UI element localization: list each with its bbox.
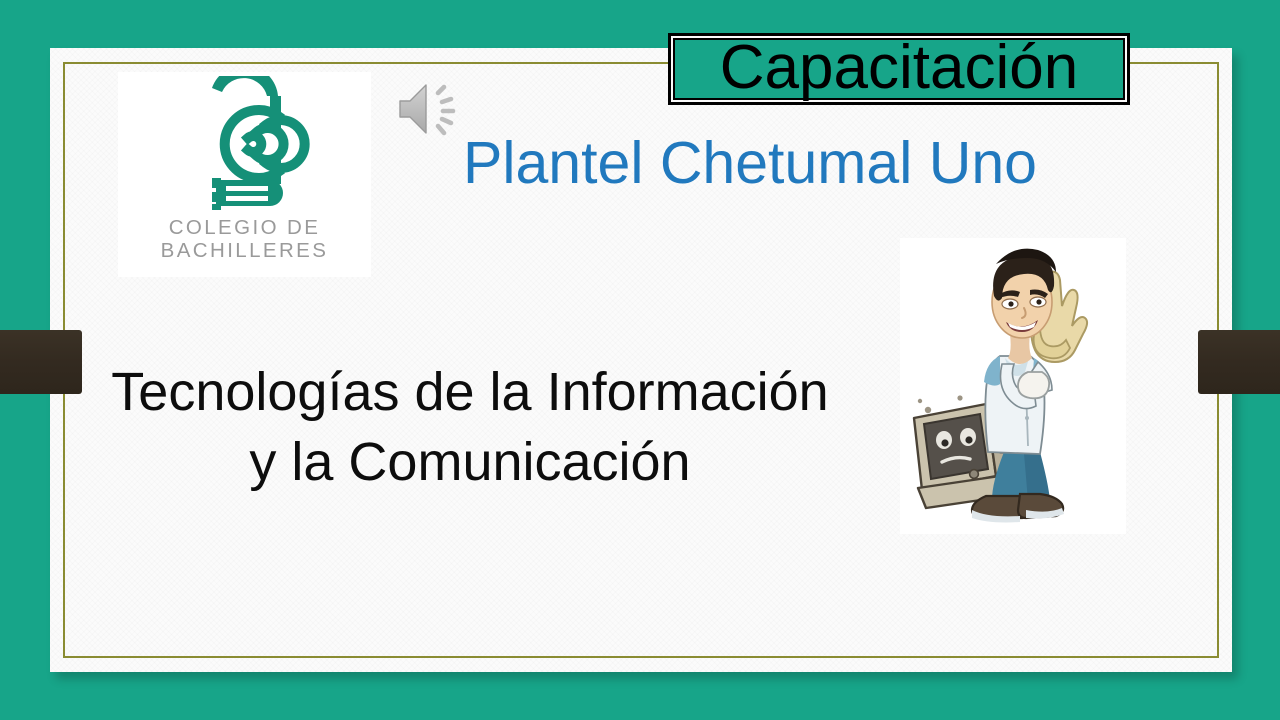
decorative-bar-right [1198, 330, 1280, 394]
colegio-de-bachilleres-logo: COLEGIO DE BACHILLERES [118, 72, 371, 277]
capacitacion-title-box: Capacitación [668, 33, 1130, 105]
technician-cartoon-image [900, 238, 1126, 534]
decorative-bar-left [0, 330, 82, 394]
slide-subtitle: Plantel Chetumal Uno [430, 133, 1070, 194]
speaker-icon-glyph [396, 80, 472, 138]
technician-cartoon-graphic [900, 238, 1126, 534]
slide-content-card: COLEGIO DE BACHILLERES [50, 48, 1232, 672]
capacitacion-title-text: Capacitación [671, 37, 1127, 99]
logo-text-line-1: COLEGIO DE [169, 216, 321, 239]
presentation-slide: COLEGIO DE BACHILLERES [0, 0, 1280, 720]
bachilleres-mark-icon [174, 76, 316, 216]
speaker-sound-icon[interactable] [396, 80, 472, 138]
logo-text-line-2: BACHILLERES [161, 239, 329, 262]
slide-body-text: Tecnologías de la Información y la Comun… [100, 357, 840, 497]
